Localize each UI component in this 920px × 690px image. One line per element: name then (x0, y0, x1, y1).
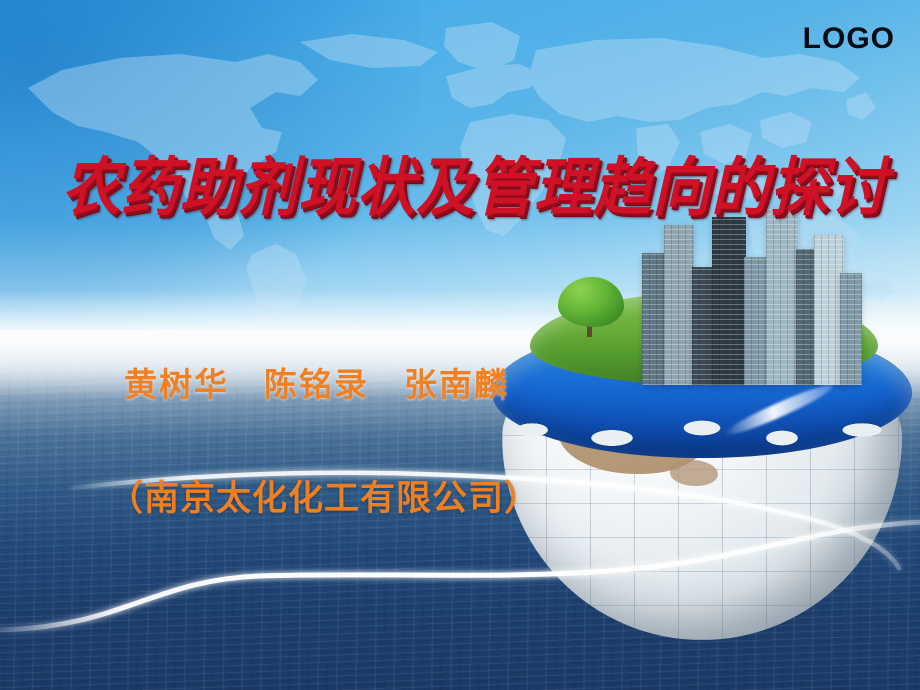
tree-crown (558, 277, 624, 327)
page-title: 农药助剂现状及管理趋向的探讨 (62, 136, 872, 228)
light-ribbon-swoosh (0, 430, 920, 690)
logo-text[interactable]: LOGO (803, 22, 895, 56)
company-name: （南京太化化工有限公司） (108, 470, 540, 521)
city-skyscrapers (642, 205, 872, 385)
presentation-slide: LOGO 农药助剂现状及管理趋向的探讨 黄树华 陈铭录 张南麟 （南京太化化工有… (0, 0, 920, 690)
author-names: 黄树华 陈铭录 张南麟 (124, 358, 509, 406)
tree-illustration (558, 277, 624, 339)
